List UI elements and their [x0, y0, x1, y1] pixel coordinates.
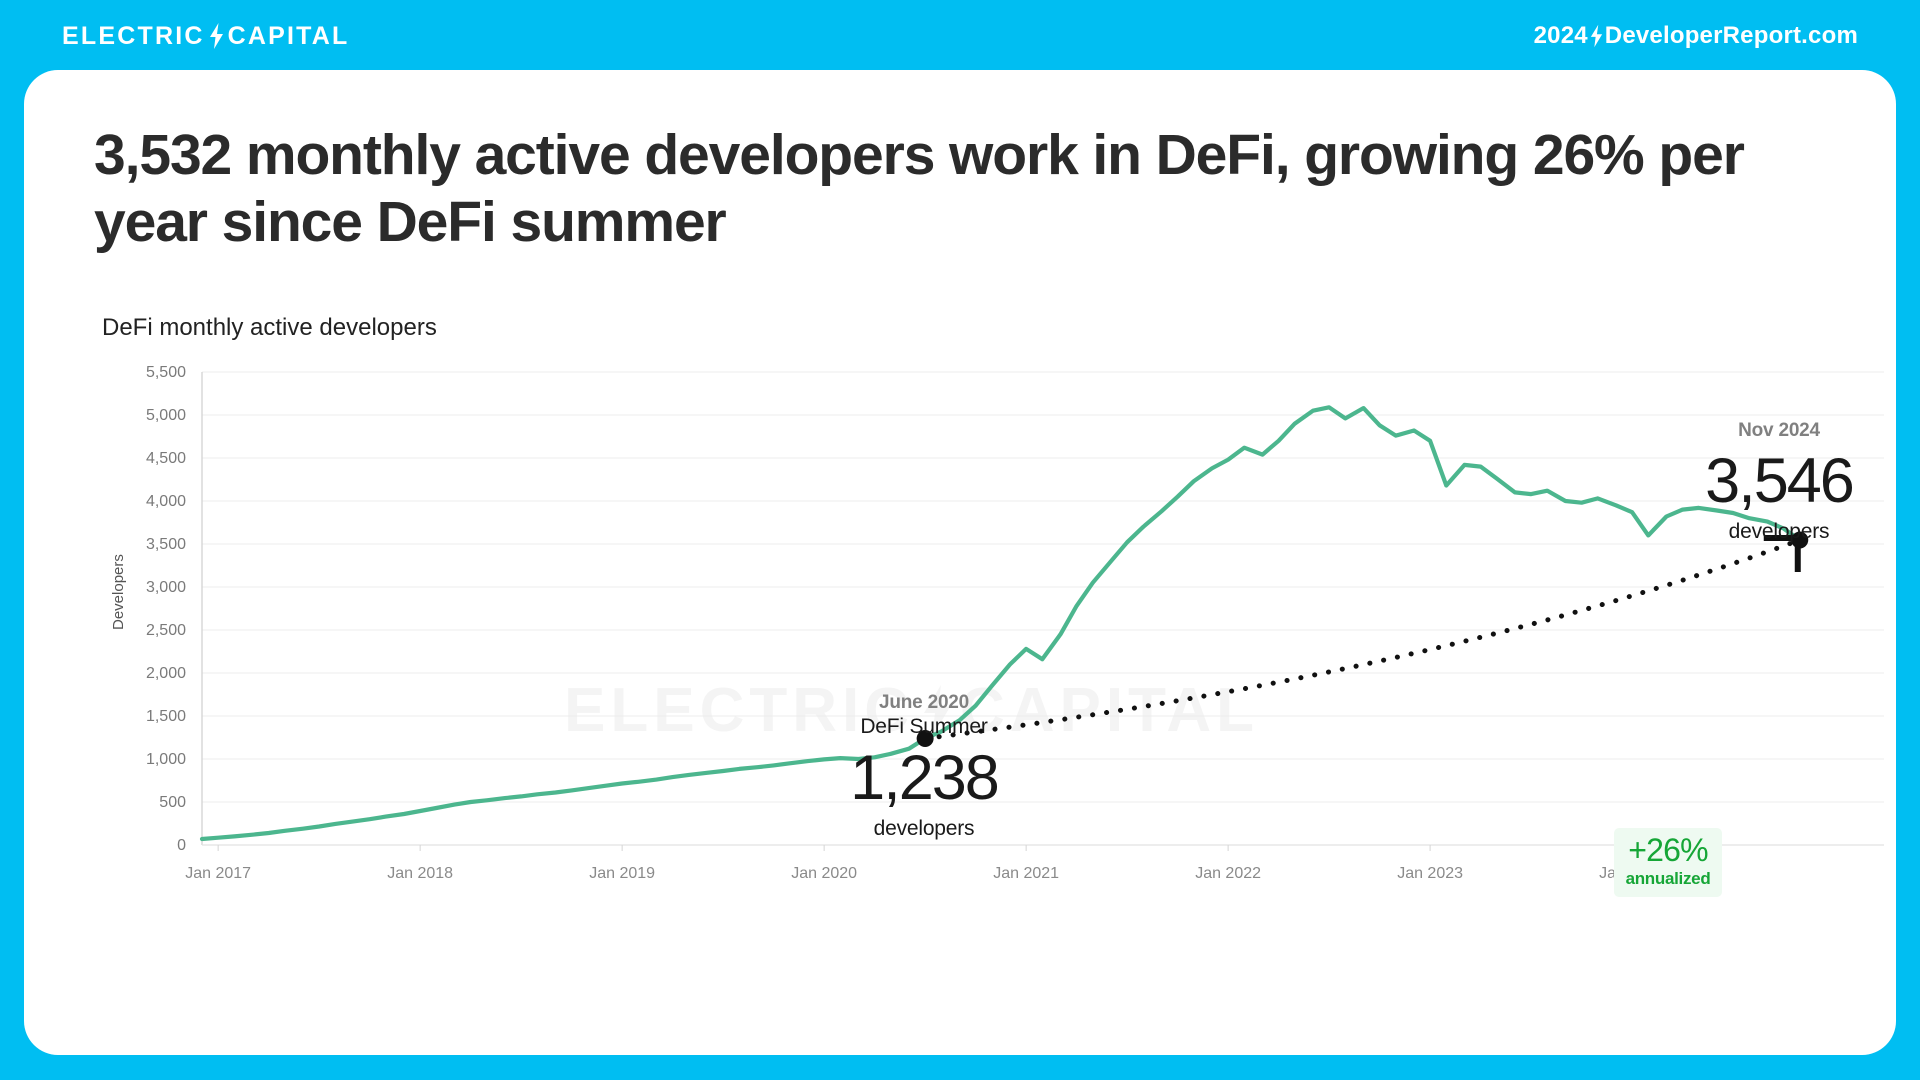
- y-axis-tick-label: 1,500: [146, 708, 186, 725]
- lightning-bolt-icon: [209, 23, 224, 49]
- brand-name-first: ELECTRIC: [62, 22, 205, 51]
- x-axis-tick-label: Jan 2017: [185, 865, 251, 882]
- growth-badge-label: annualized: [1618, 869, 1718, 889]
- chart-subtitle: DeFi monthly active developers: [102, 314, 437, 342]
- annotation-defi-summer: June 2020 DeFi Summer 1,238 developers: [834, 692, 1014, 841]
- site-year: 2024: [1534, 22, 1588, 50]
- y-axis-tick-label: 0: [177, 837, 186, 854]
- y-axis-tick-label: 2,500: [146, 622, 186, 639]
- x-axis-tick-label: Jan 2023: [1397, 865, 1463, 882]
- lightning-bolt-icon: [1590, 24, 1603, 48]
- page-header: ELECTRIC CAPITAL 2024 DeveloperReport.co…: [0, 0, 1920, 72]
- y-axis-label: Developers: [110, 554, 127, 630]
- x-axis-tick-label: Jan 2019: [589, 865, 655, 882]
- y-axis-tick-label: 500: [159, 794, 186, 811]
- annotation-date: Nov 2024: [1679, 420, 1879, 442]
- y-axis-tick-label: 3,000: [146, 579, 186, 596]
- annotation-value: 1,238: [834, 745, 1014, 811]
- x-axis-tick-label: Jan 2020: [791, 865, 857, 882]
- y-axis-tick-label: 5,000: [146, 407, 186, 424]
- annotation-value: 3,546: [1679, 448, 1879, 514]
- slide-root: ELECTRIC CAPITAL 2024 DeveloperReport.co…: [0, 0, 1920, 1080]
- page-title: 3,532 monthly active developers work in …: [94, 122, 1834, 257]
- annotation-label: DeFi Summer: [834, 715, 1014, 739]
- x-axis-tick-label: Jan 2022: [1195, 865, 1261, 882]
- brand-name-second: CAPITAL: [228, 22, 350, 51]
- developer-report-link[interactable]: 2024 DeveloperReport.com: [1534, 22, 1858, 50]
- growth-badge: +26% annualized: [1614, 828, 1722, 897]
- x-axis-tick-label: Jan 2018: [387, 865, 453, 882]
- annotation-latest: Nov 2024 3,546 developers: [1679, 420, 1879, 544]
- annotation-date: June 2020: [834, 692, 1014, 714]
- y-axis-tick-label: 5,500: [146, 364, 186, 381]
- y-axis-tick-label: 4,000: [146, 493, 186, 510]
- electric-capital-logo: ELECTRIC CAPITAL: [62, 22, 349, 51]
- annotation-unit: developers: [1679, 520, 1879, 544]
- y-axis-tick-label: 2,000: [146, 665, 186, 682]
- x-axis-tick-label: Jan 2021: [993, 865, 1059, 882]
- y-axis-tick-label: 1,000: [146, 751, 186, 768]
- annotation-unit: developers: [834, 817, 1014, 841]
- content-card: 3,532 monthly active developers work in …: [24, 70, 1896, 1055]
- growth-badge-value: +26%: [1618, 834, 1718, 868]
- y-axis-tick-label: 4,500: [146, 450, 186, 467]
- y-axis-tick-label: 3,500: [146, 536, 186, 553]
- site-domain: DeveloperReport.com: [1605, 22, 1858, 50]
